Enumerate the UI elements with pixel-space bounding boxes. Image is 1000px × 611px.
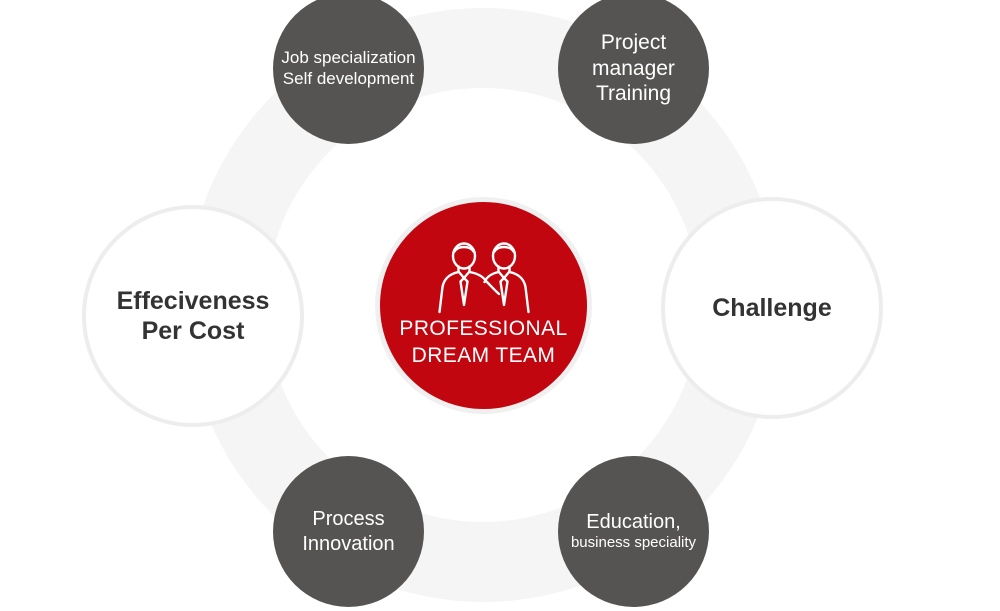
node-process-innovation-line2: Innovation <box>302 532 394 556</box>
node-challenge[interactable]: Challenge <box>661 197 883 419</box>
diagram-canvas: Job specialization Self development Proj… <box>0 0 1000 611</box>
center-line2: DREAM TEAM <box>399 343 567 369</box>
node-effeciveness-per-cost-line2: Per Cost <box>117 316 270 347</box>
node-professional-dream-team[interactable]: PROFESSIONAL DREAM TEAM <box>375 197 592 414</box>
two-people-in-suits-icon <box>429 242 539 314</box>
center-line1: PROFESSIONAL <box>399 316 567 342</box>
node-education-business-speciality-line1: Education, <box>571 510 696 534</box>
node-process-innovation-line1: Process <box>302 507 394 531</box>
node-project-manager-training-line1: Project <box>592 30 675 56</box>
node-job-specialization-line1: Job specialization <box>281 48 415 69</box>
node-job-specialization[interactable]: Job specialization Self development <box>273 0 424 144</box>
node-effeciveness-per-cost-text: Effeciveness Per Cost <box>117 286 270 347</box>
node-project-manager-training[interactable]: Project manager Training <box>558 0 709 144</box>
node-challenge-line1: Challenge <box>712 293 831 324</box>
node-job-specialization-text: Job specialization Self development <box>281 48 415 89</box>
node-challenge-text: Challenge <box>712 293 831 324</box>
node-education-business-speciality-line2: business speciality <box>571 534 696 553</box>
node-project-manager-training-line3: Training <box>592 81 675 107</box>
node-process-innovation[interactable]: Process Innovation <box>273 456 424 607</box>
node-effeciveness-per-cost-line1: Effeciveness <box>117 286 270 317</box>
node-project-manager-training-text: Project manager Training <box>592 30 675 107</box>
node-education-business-speciality-text: Education, business speciality <box>571 510 696 553</box>
node-education-business-speciality[interactable]: Education, business speciality <box>558 456 709 607</box>
node-process-innovation-text: Process Innovation <box>302 507 394 556</box>
node-professional-dream-team-text: PROFESSIONAL DREAM TEAM <box>399 316 567 369</box>
node-project-manager-training-line2: manager <box>592 56 675 82</box>
node-effeciveness-per-cost[interactable]: Effeciveness Per Cost <box>82 205 304 427</box>
node-job-specialization-line2: Self development <box>281 69 415 90</box>
